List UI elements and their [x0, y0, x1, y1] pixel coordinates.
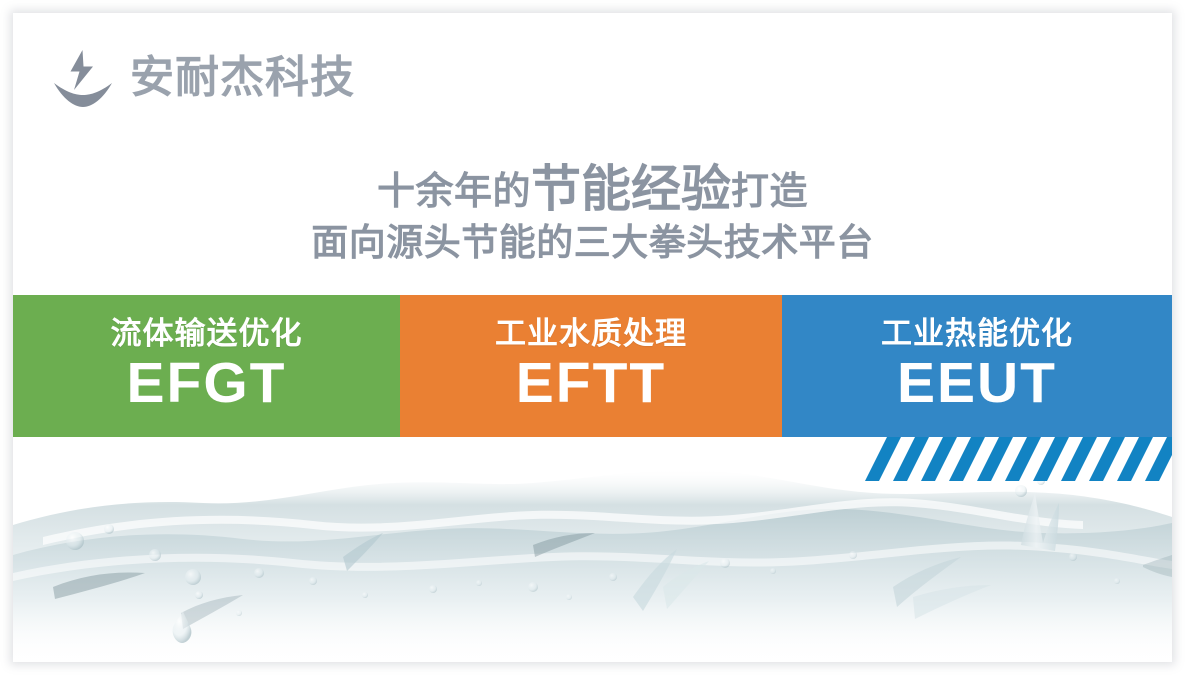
slide-canvas: 安耐杰科技 十余年的节能经验打造 面向源头节能的三大拳头技术平台 流体输送优化 … [0, 0, 1185, 675]
headline-line-1-emphasis: 节能经验 [531, 161, 731, 217]
company-name-text: 安耐杰科技 [130, 56, 355, 100]
headline-line-1: 十余年的节能经验打造 [13, 163, 1172, 216]
platform-panel-efgt[interactable]: 流体输送优化 EFGT [13, 295, 400, 437]
headline-block: 十余年的节能经验打造 面向源头节能的三大拳头技术平台 [13, 163, 1172, 262]
platform-panel-eftt-title: 工业水质处理 [495, 318, 687, 351]
platform-panels: 流体输送优化 EFGT 工业水质处理 EFTT 工业热能优化 EEUT [13, 295, 1172, 437]
presentation-slide: 安耐杰科技 十余年的节能经验打造 面向源头节能的三大拳头技术平台 流体输送优化 … [13, 13, 1172, 662]
diagonal-stripes-decoration [865, 437, 1172, 485]
platform-panel-eeut[interactable]: 工业热能优化 EEUT [782, 295, 1172, 437]
headline-line-1-prefix: 十余年的 [377, 171, 531, 213]
headline-line-1-suffix: 打造 [731, 171, 808, 213]
platform-panel-efgt-title: 流体输送优化 [111, 318, 303, 351]
platform-panel-eeut-title: 工业热能优化 [881, 318, 1073, 351]
headline-line-2: 面向源头节能的三大拳头技术平台 [13, 223, 1172, 262]
platform-panel-eftt[interactable]: 工业水质处理 EFTT [400, 295, 782, 437]
platform-panel-eftt-code: EFTT [516, 353, 666, 415]
platform-panel-eeut-code: EEUT [897, 353, 1057, 415]
platform-panel-efgt-code: EFGT [127, 353, 287, 415]
company-logo[interactable]: 安耐杰科技 [48, 45, 355, 111]
lightning-bolt-swoosh-icon [48, 45, 118, 111]
